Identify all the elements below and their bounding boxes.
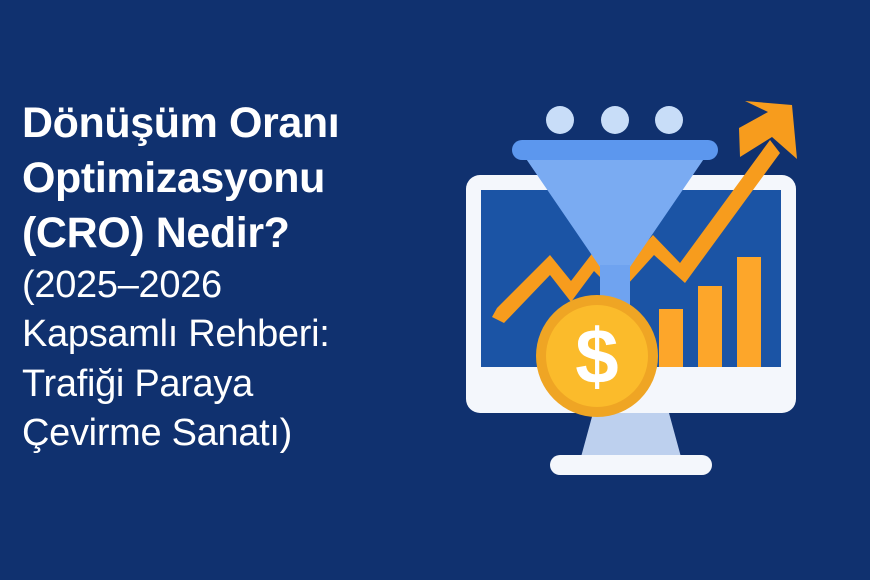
funnel-dot-icon bbox=[601, 106, 629, 134]
funnel-dots-group bbox=[546, 106, 683, 134]
cro-illustration: $ bbox=[440, 85, 850, 495]
funnel-dot-icon bbox=[655, 106, 683, 134]
chart-bar bbox=[659, 309, 683, 367]
monitor-base bbox=[550, 455, 712, 475]
coin-dollar-symbol: $ bbox=[575, 312, 618, 400]
funnel-dot-icon bbox=[546, 106, 574, 134]
page-title: Dönüşüm Oranı Optimizasyonu (CRO) Nedir? bbox=[22, 96, 442, 261]
monitor-stand bbox=[581, 413, 681, 457]
text-block: Dönüşüm Oranı Optimizasyonu (CRO) Nedir?… bbox=[22, 96, 442, 459]
dollar-coin-icon: $ bbox=[536, 295, 658, 417]
page-subtitle: (2025–2026 Kapsamlı Rehberi: Trafiği Par… bbox=[22, 261, 442, 459]
banner: Dönüşüm Oranı Optimizasyonu (CRO) Nedir?… bbox=[0, 0, 870, 580]
chart-bar bbox=[737, 257, 761, 367]
chart-bar bbox=[698, 286, 722, 367]
funnel-rim bbox=[512, 140, 718, 160]
